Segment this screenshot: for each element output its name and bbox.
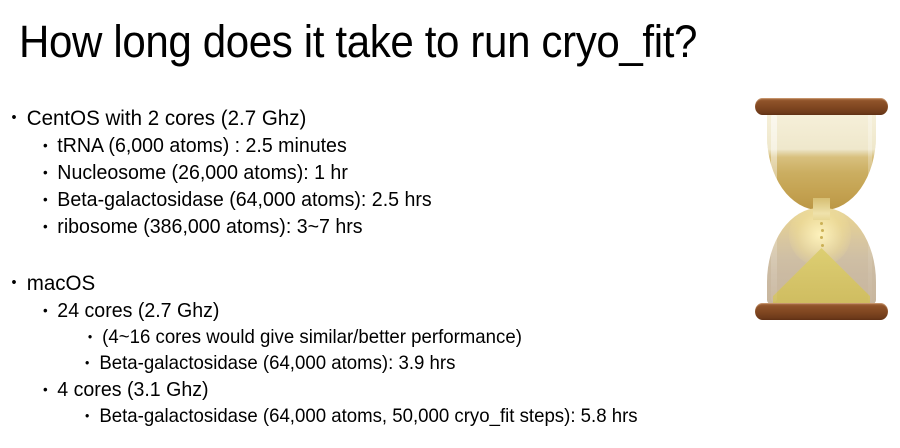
list-item: • macOS [0,269,711,297]
list-item: • CentOS with 2 cores (2.7 Ghz) [0,104,711,132]
bullet-dot-icon: • [43,297,48,324]
sand-grain [820,236,823,239]
list-item-label: 24 cores (2.7 Ghz) [57,297,219,324]
list-item: • Beta-galactosidase (64,000 atoms): 2.5… [0,186,711,213]
bullet-dot-icon: • [43,376,48,403]
bullet-dot-icon: • [85,403,89,429]
list-item-label: 4 cores (3.1 Ghz) [57,376,208,403]
bullet-dot-icon: • [43,186,48,213]
list-item: • Beta-galactosidase (64,000 atoms, 50,0… [0,403,711,429]
sand-grain [820,222,823,225]
list-item: • Beta-galactosidase (64,000 atoms): 3.9… [0,350,711,376]
hourglass-icon [753,98,890,320]
list-item-label: (4~16 cores would give similar/better pe… [102,324,522,350]
bullet-dot-icon: • [43,159,48,186]
list-item: • 24 cores (2.7 Ghz) [0,297,711,324]
bullet-dot-icon: • [11,269,16,297]
hourglass-top-cap [755,98,888,115]
list-spacer [0,240,745,269]
list-item: • Nucleosome (26,000 atoms): 1 hr [0,159,711,186]
bullet-list: • CentOS with 2 cores (2.7 Ghz) • tRNA (… [0,104,745,429]
sand-grain [821,229,824,232]
list-item: • tRNA (6,000 atoms) : 2.5 minutes [0,132,711,159]
list-item-label: tRNA (6,000 atoms) : 2.5 minutes [57,132,346,159]
sand-mound [773,248,870,304]
list-item: • ribosome (386,000 atoms): 3~7 hrs [0,213,711,240]
hourglass-bottom-cap [755,303,888,320]
bullet-dot-icon: • [43,132,48,159]
glass-highlight-left [771,114,777,302]
hourglass-neck [813,198,830,220]
list-item: • 4 cores (3.1 Ghz) [0,376,711,403]
bullet-dot-icon: • [43,213,48,240]
list-item-label: Beta-galactosidase (64,000 atoms): 3.9 h… [99,350,455,376]
list-item-label: Nucleosome (26,000 atoms): 1 hr [57,159,348,186]
list-item-label: CentOS with 2 cores (2.7 Ghz) [27,104,307,132]
hourglass-upper-bulb [767,112,876,210]
list-item-label: Beta-galactosidase (64,000 atoms): 2.5 h… [57,186,431,213]
page-title: How long does it take to run cryo_fit? [19,17,730,67]
list-item-label: ribosome (386,000 atoms): 3~7 hrs [57,213,362,240]
list-item-label: macOS [27,269,95,297]
bullet-dot-icon: • [85,350,89,376]
list-item: • (4~16 cores would give similar/better … [0,324,711,350]
slide-canvas: How long does it take to run cryo_fit? •… [0,0,900,448]
list-item-label: Beta-galactosidase (64,000 atoms, 50,000… [99,403,637,429]
bullet-dot-icon: • [11,104,16,132]
sand-grain [821,244,824,247]
bullet-dot-icon: • [88,324,92,350]
glass-highlight-right [868,114,872,302]
